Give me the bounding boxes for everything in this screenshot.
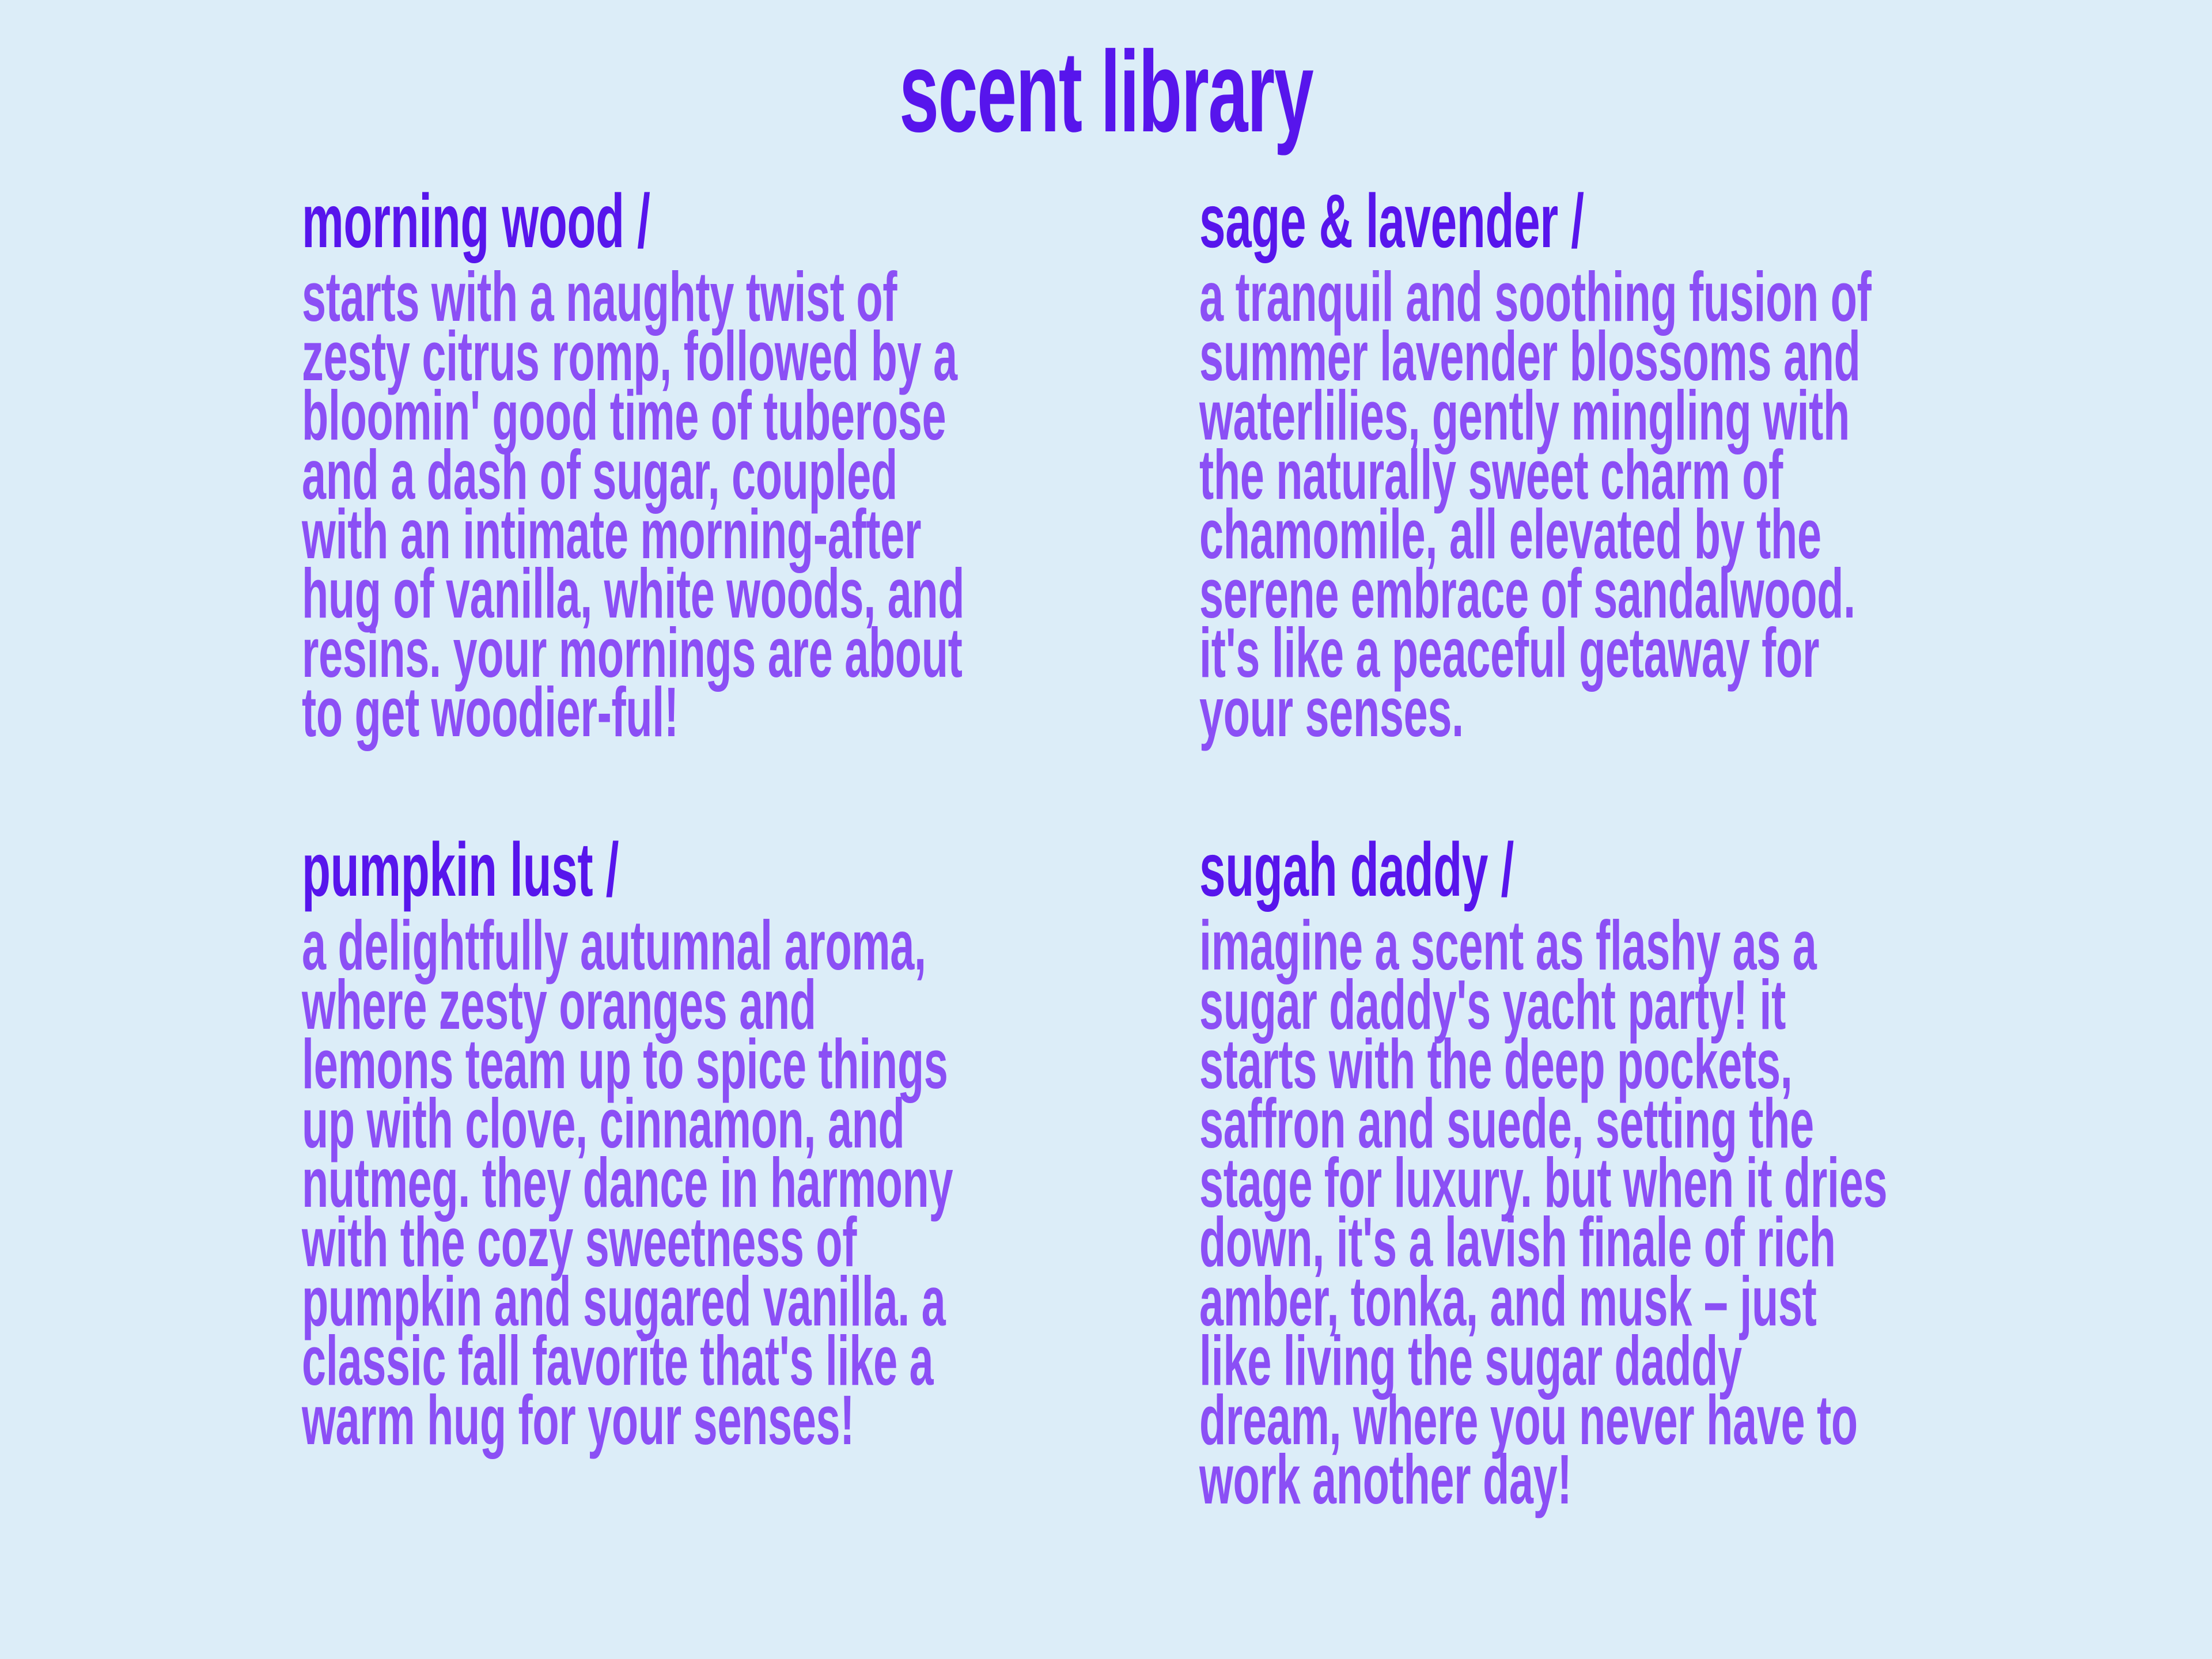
scent-description: imagine a scent as flashy as asugar dadd…: [1199, 916, 1756, 1509]
scent-card-sage-and-lavender: sage & lavender / a tranquil and soothin…: [1199, 183, 2098, 742]
scent-description: starts with a naughty twist ofzesty citr…: [302, 267, 844, 742]
scent-description: a tranquil and soothing fusion ofsummer …: [1199, 267, 1756, 742]
scent-name: pumpkin lust /: [302, 832, 844, 908]
page-title: scent library: [899, 35, 1313, 150]
scent-card-sugah-daddy: sugah daddy / imagine a scent as flashy …: [1199, 832, 2098, 1509]
scent-grid: morning wood / starts with a naughty twi…: [0, 183, 2212, 1623]
scent-name: morning wood /: [302, 183, 844, 259]
description-line: warm hug for your senses!: [302, 1391, 844, 1450]
scent-name: sugah daddy /: [1199, 832, 1756, 908]
scent-description: a delightfully autumnal aroma,where zest…: [302, 916, 844, 1450]
scent-name: sage & lavender /: [1199, 183, 1756, 259]
scent-card-pumpkin-lust: pumpkin lust / a delightfully autumnal a…: [302, 832, 1177, 1450]
page-title-container: scent library: [0, 35, 2212, 150]
scent-library-page: scent library morning wood / starts with…: [0, 0, 2212, 1659]
scent-card-morning-wood: morning wood / starts with a naughty twi…: [302, 183, 1177, 742]
